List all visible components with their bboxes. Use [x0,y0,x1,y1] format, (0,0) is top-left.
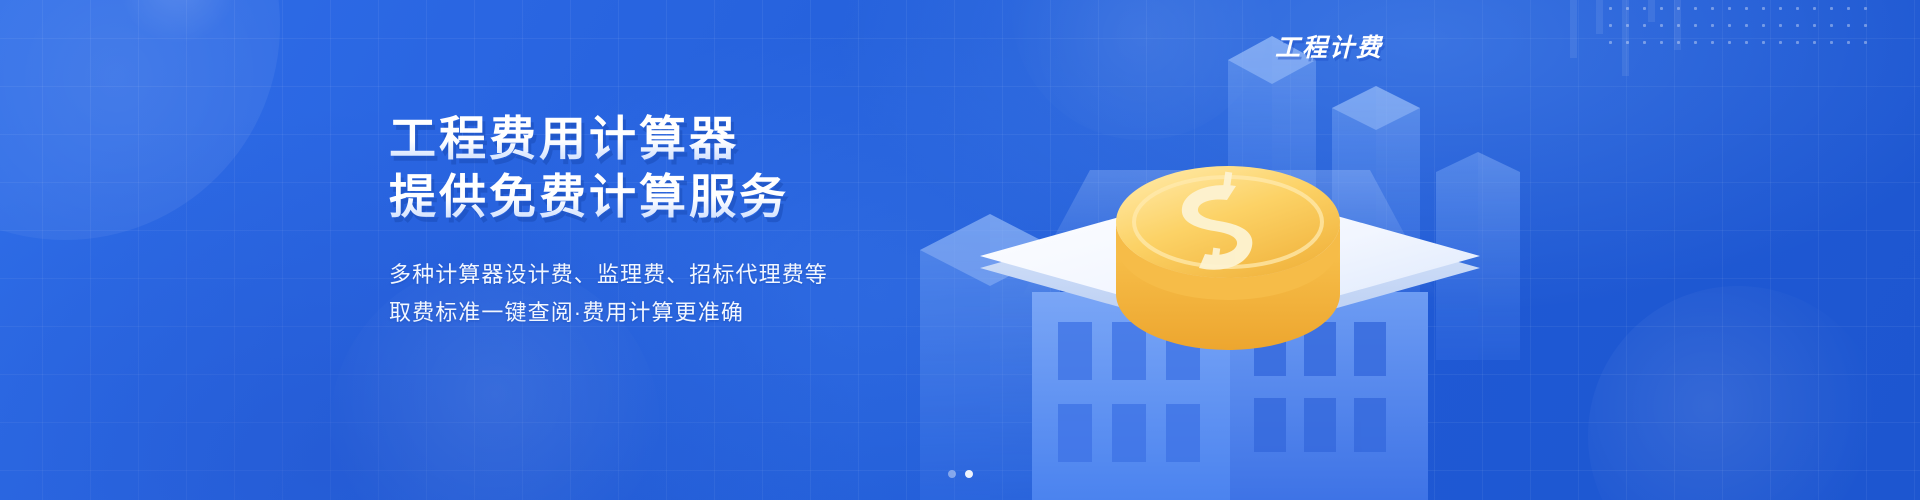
illustration-badge-label: 工程计费 [1275,28,1383,64]
carousel-dot-1[interactable] [948,470,956,478]
isometric-illustration: 工程计费 [880,0,1580,500]
headline-line-1: 工程费用计算器 [389,112,949,166]
headline-line-2: 提供免费计算服务 [389,170,949,224]
hero-banner: 工程费用计算器 提供免费计算服务 多种计算器设计费、监理费、招标代理费等 取费标… [0,0,1920,500]
subtitle-line-2: 取费标准一键查阅·费用计算更准确 [389,294,949,332]
gold-coin [1116,166,1340,350]
carousel-dot-2[interactable] [965,470,973,478]
banner-copy: 工程费用计算器 提供免费计算服务 多种计算器设计费、监理费、招标代理费等 取费标… [389,112,949,332]
carousel-dots[interactable] [0,470,1920,478]
vertical-bars-decoration [1570,0,1800,80]
illustration-svg [880,0,1580,500]
subtitle-line-1: 多种计算器设计费、监理费、招标代理费等 [389,256,949,294]
